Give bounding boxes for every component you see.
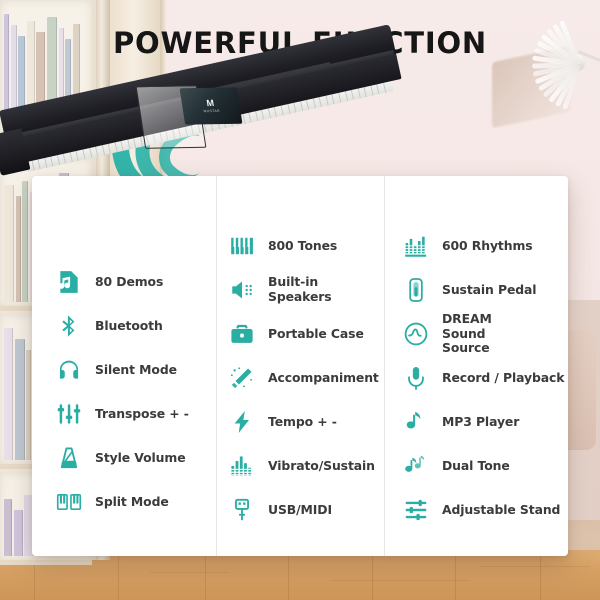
magic-wand-icon: [229, 365, 255, 391]
feature-item: 600 Rhythms: [403, 224, 568, 268]
feature-column-2: 800 TonesBuilt-in SpeakersPortable CaseA…: [216, 176, 384, 556]
feature-label: Bluetooth: [95, 319, 163, 334]
book: [15, 339, 25, 460]
briefcase-icon: [229, 321, 255, 347]
piano-keys-icon: [229, 233, 255, 259]
feature-item: Tempo + -: [229, 400, 384, 444]
feature-label: Transpose + -: [95, 407, 189, 422]
feature-item: Accompaniment: [229, 356, 384, 400]
feature-label: Split Mode: [95, 495, 169, 510]
feature-label: MP3 Player: [442, 415, 519, 430]
book: [4, 328, 13, 460]
feature-item: 800 Tones: [229, 224, 384, 268]
feature-item: Transpose + -: [56, 392, 216, 436]
floor-grain: [330, 580, 470, 581]
feature-item: Adjustable Stand: [403, 488, 568, 532]
feature-label: 800 Tones: [268, 239, 337, 254]
speaker-icon: [229, 277, 255, 303]
sustain-pedal-icon: [403, 277, 429, 303]
double-note-icon: [403, 453, 429, 479]
feature-item: Silent Mode: [56, 348, 216, 392]
feature-label: 80 Demos: [95, 275, 163, 290]
feature-item: Bluetooth: [56, 304, 216, 348]
book: [26, 350, 31, 460]
feature-item: Dual Tone: [403, 444, 568, 488]
feature-item: Split Mode: [56, 480, 216, 524]
feature-item: Style Volume: [56, 436, 216, 480]
feature-label: Portable Case: [268, 327, 364, 342]
book: [4, 499, 12, 556]
eighth-note-icon: [403, 409, 429, 435]
feature-item: USB/MIDI: [229, 488, 384, 532]
feature-item: MP3 Player: [403, 400, 568, 444]
floor-grain: [150, 572, 230, 573]
feature-label: Silent Mode: [95, 363, 177, 378]
metronome-icon: [56, 445, 82, 471]
brand-plate: M MUSTAR: [180, 87, 243, 124]
feature-item: Sustain Pedal: [403, 268, 568, 312]
feature-item: 80 Demos: [56, 260, 216, 304]
feature-label: Adjustable Stand: [442, 503, 560, 518]
microphone-icon: [403, 365, 429, 391]
equalizer-bars-icon: [229, 453, 255, 479]
feature-columns: 80 DemosBluetoothSilent ModeTranspose + …: [32, 176, 568, 556]
usb-plug-icon: [229, 497, 255, 523]
feature-label: Dual Tone: [442, 459, 510, 474]
feature-label: Accompaniment: [268, 371, 379, 386]
feature-item: Built-in Speakers: [229, 268, 384, 312]
floor-grain: [480, 566, 590, 567]
feature-label: USB/MIDI: [268, 503, 332, 518]
bar-chart-icon: [403, 233, 429, 259]
feature-label: Sustain Pedal: [442, 283, 536, 298]
feature-label: Vibrato/Sustain: [268, 459, 375, 474]
feature-item: Portable Case: [229, 312, 384, 356]
feature-label: DREAM Sound Source: [442, 312, 534, 356]
waveform-circle-icon: [403, 321, 429, 347]
feature-card: 80 DemosBluetoothSilent ModeTranspose + …: [32, 176, 568, 556]
lightning-bolt-icon: [229, 409, 255, 435]
headphones-icon: [56, 357, 82, 383]
feature-label: Built-in Speakers: [268, 275, 384, 304]
music-note-page-icon: [56, 269, 82, 295]
feature-item: DREAM Sound Source: [403, 312, 568, 356]
feature-label: Record / Playback: [442, 371, 564, 386]
bluetooth-icon: [56, 313, 82, 339]
brand-name: MUSTAR: [203, 110, 220, 114]
piano-split-keys-icon: [56, 489, 82, 515]
feature-column-3: 600 RhythmsSustain PedalDREAM Sound Sour…: [384, 176, 568, 556]
feature-label: Tempo + -: [268, 415, 337, 430]
brand-logo: M: [206, 99, 215, 108]
music-rest: M MUSTAR: [140, 86, 256, 152]
book: [14, 510, 23, 556]
feature-label: 600 Rhythms: [442, 239, 533, 254]
scene: POWERFUL FUNCTION M MUSTAR: [0, 0, 600, 600]
sliders-vertical-icon: [56, 401, 82, 427]
feature-item: Vibrato/Sustain: [229, 444, 384, 488]
feature-column-1: 80 DemosBluetoothSilent ModeTranspose + …: [32, 176, 216, 556]
sliders-horizontal-icon: [403, 497, 429, 523]
feature-item: Record / Playback: [403, 356, 568, 400]
feature-label: Style Volume: [95, 451, 186, 466]
